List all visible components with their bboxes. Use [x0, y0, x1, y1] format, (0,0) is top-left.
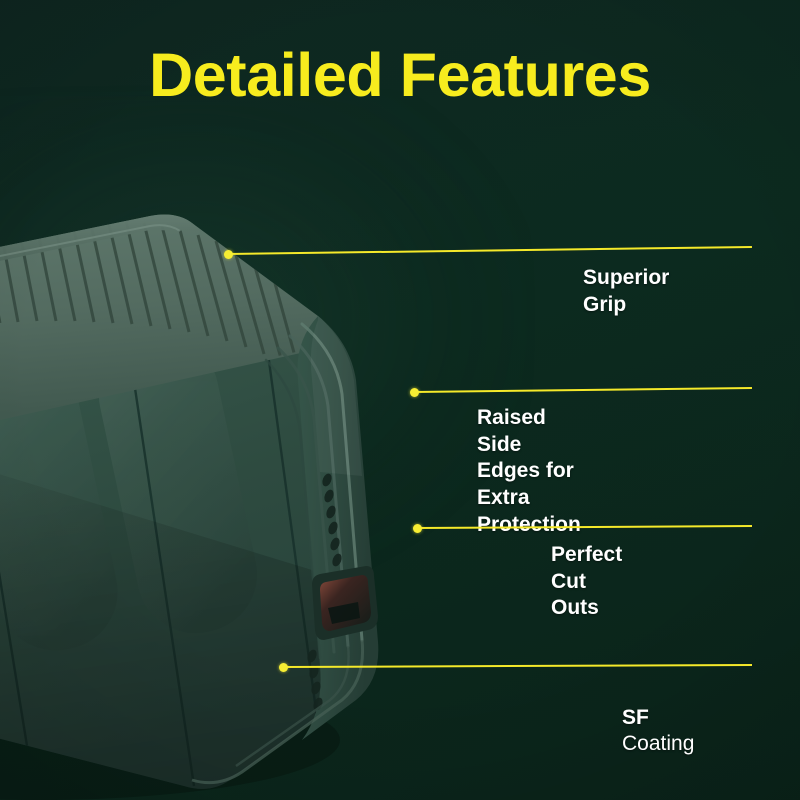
leader-dot [224, 250, 233, 259]
charging-port-cutout [312, 566, 378, 640]
callout-label: SF Coating [622, 678, 694, 758]
callout-label-bold: SF [622, 706, 649, 729]
callout-label: Perfect Cut Outs [551, 542, 622, 622]
callout-label: Raised Side Edges for Extra Protection [477, 405, 581, 538]
leader-dot [413, 524, 422, 533]
leader-dot [279, 663, 288, 672]
callout-label: Superior Grip [583, 265, 669, 318]
infographic-canvas: Detailed Features Superior Grip Raised S… [0, 0, 800, 800]
callout-label-rest: Coating [622, 732, 694, 755]
page-title: Detailed Features [0, 44, 800, 106]
leader-dot [410, 388, 419, 397]
